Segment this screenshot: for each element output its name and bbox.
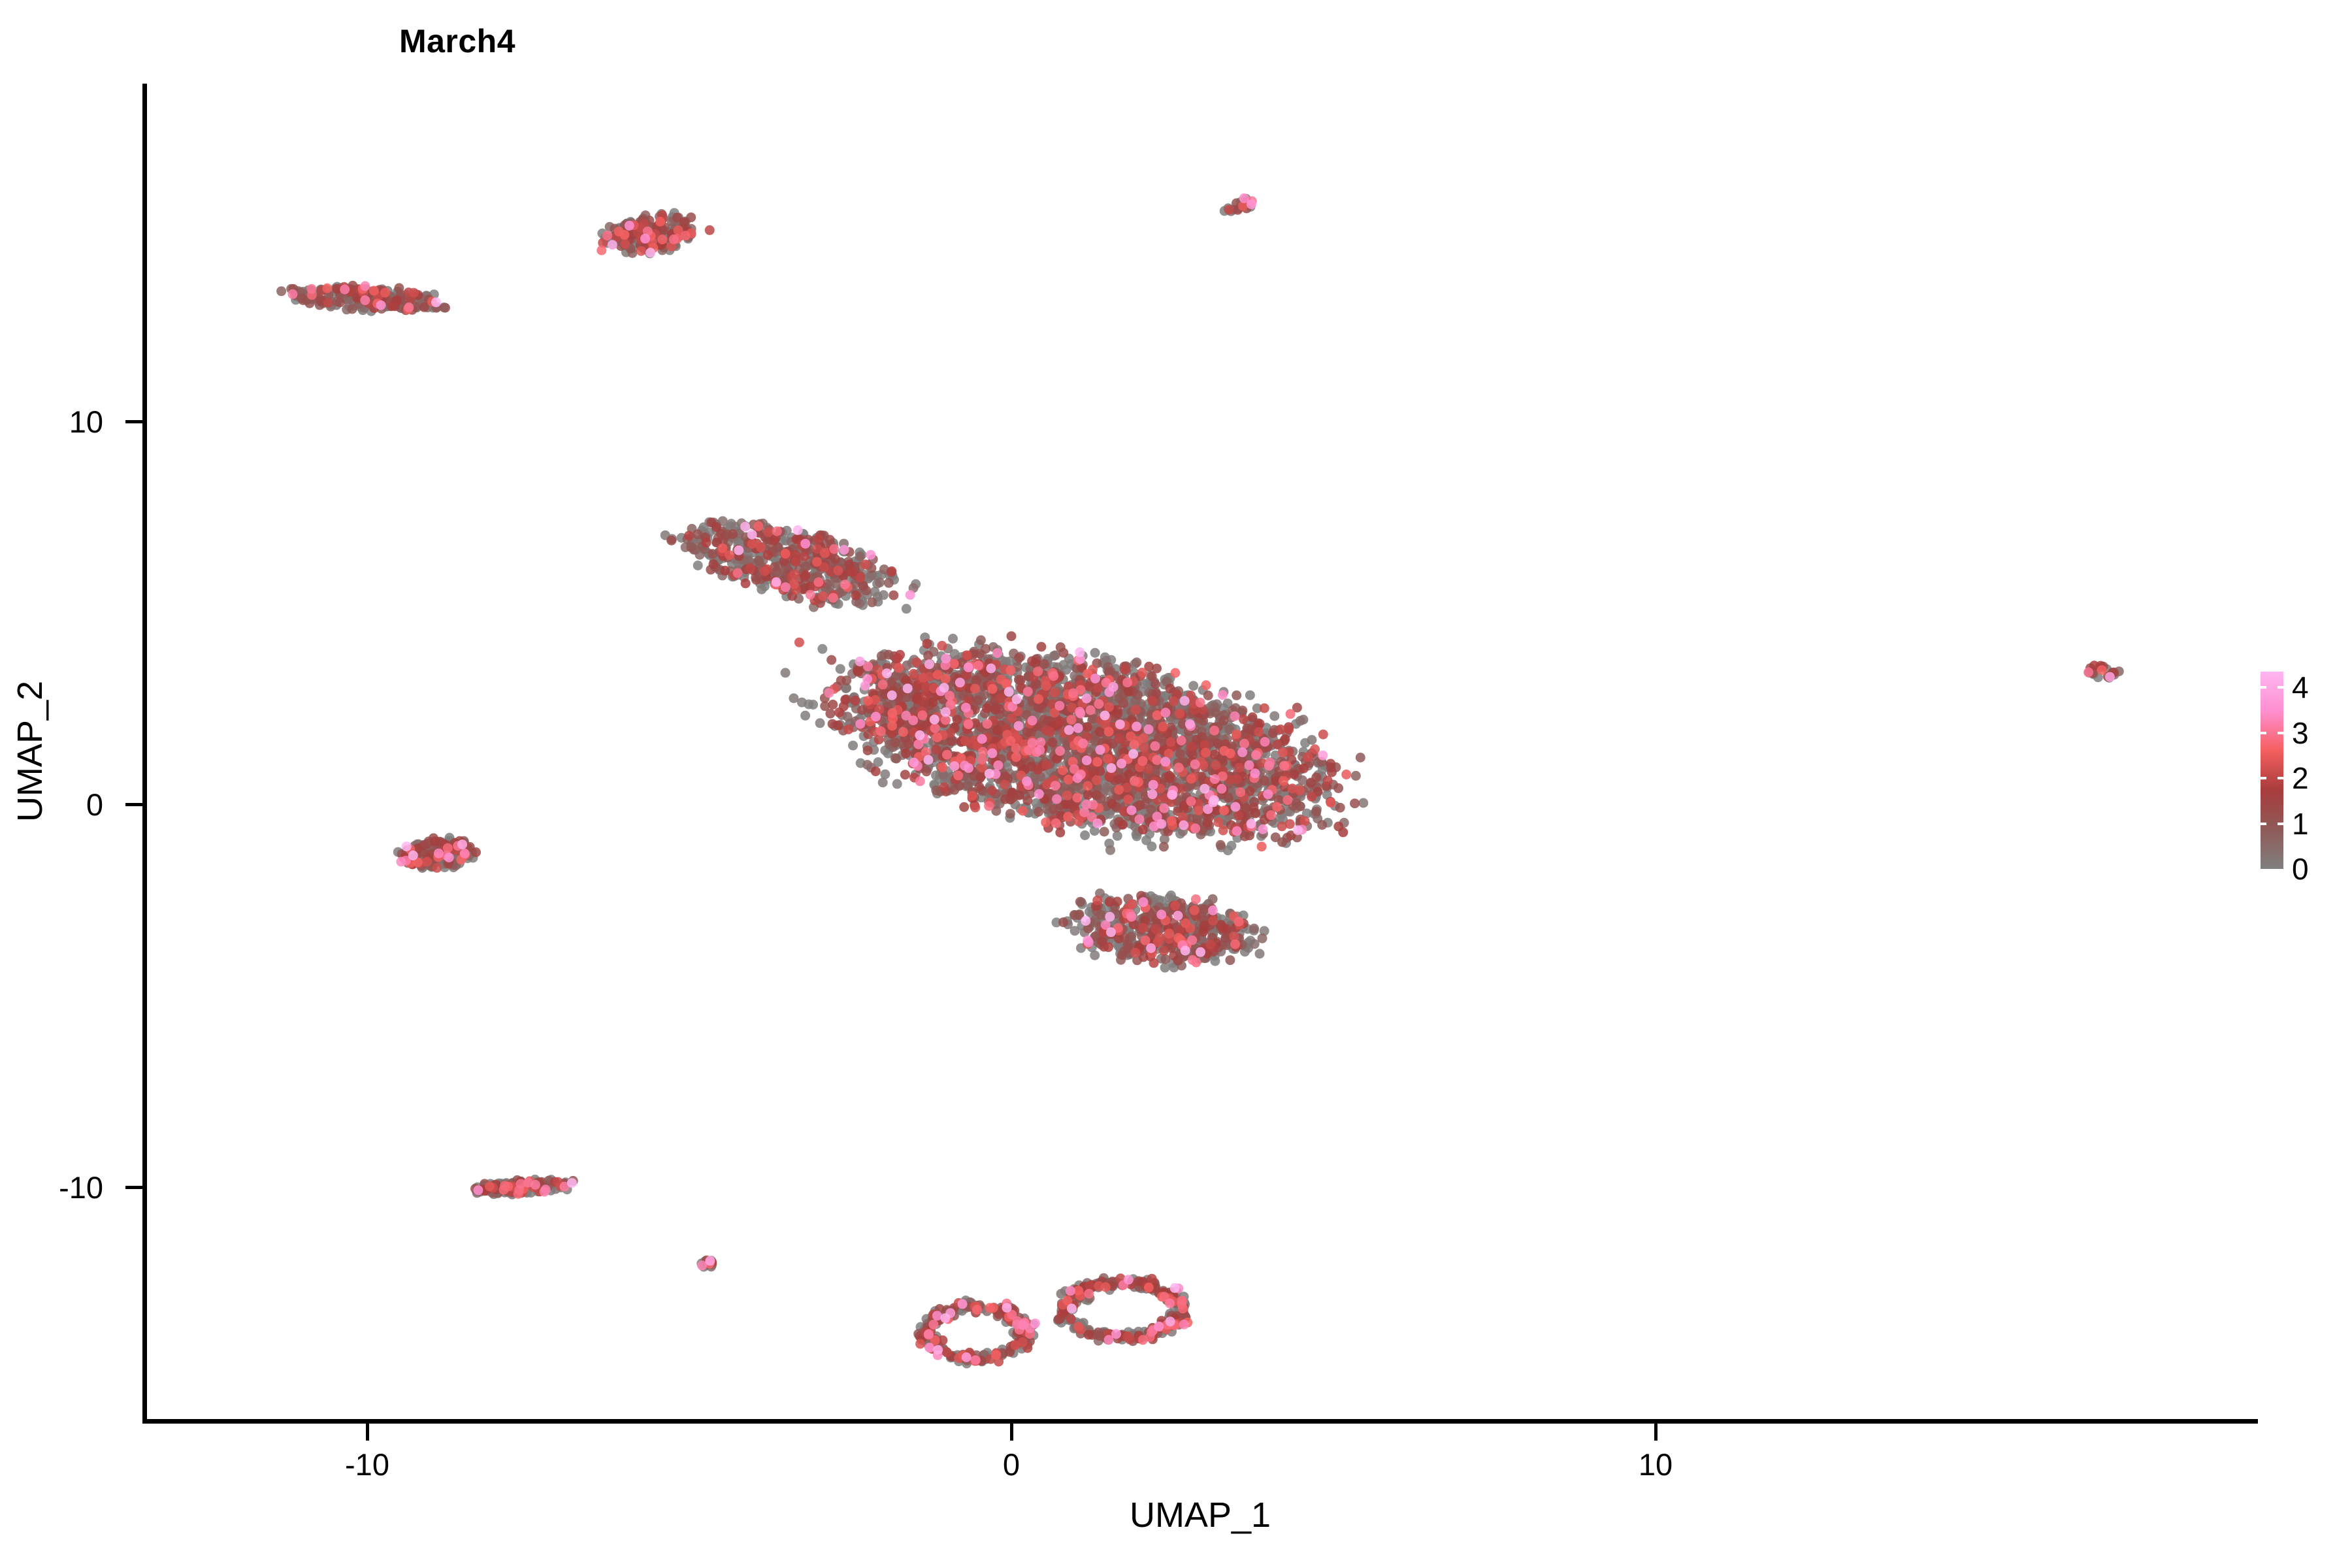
colorbar-tick: [2278, 777, 2283, 779]
y-axis-label: UMAP_2: [10, 681, 50, 822]
scatter-points-layer: [147, 84, 2258, 1419]
x-axis-line: [142, 1419, 2258, 1424]
colorbar-label: 3: [2292, 718, 2309, 748]
y-tick-label: 10: [0, 406, 103, 437]
colorbar-label: 4: [2292, 672, 2309, 702]
colorbar-tick: [2261, 823, 2266, 825]
x-tick-label: -10: [269, 1449, 465, 1480]
x-tick-mark: [366, 1424, 369, 1441]
colorbar-gradient: [2261, 672, 2283, 869]
y-tick-mark: [125, 1186, 142, 1189]
x-tick-label: 0: [913, 1449, 1109, 1480]
colorbar-tick: [2278, 732, 2283, 734]
page-title: March4: [0, 22, 1633, 60]
colorbar-tick: [2278, 686, 2283, 689]
colorbar-label: 2: [2292, 763, 2309, 793]
colorbar-label: 0: [2292, 854, 2309, 884]
x-tick-mark: [1654, 1424, 1658, 1441]
x-axis-label: UMAP_1: [1130, 1495, 1271, 1535]
colorbar-tick: [2278, 823, 2283, 825]
y-tick-mark: [125, 803, 142, 806]
x-tick-mark: [1010, 1424, 1013, 1441]
x-tick-label: 10: [1558, 1449, 1754, 1480]
colorbar-legend: 01234: [2261, 672, 2352, 881]
y-tick-mark: [125, 420, 142, 423]
y-axis-line: [142, 84, 147, 1419]
y-tick-label: -10: [0, 1172, 103, 1203]
figure-root: March4 100-10 -10010 UMAP_2 UMAP_1 01234: [0, 0, 2352, 1568]
colorbar-tick: [2261, 777, 2266, 779]
colorbar-tick: [2261, 686, 2266, 689]
colorbar-label: 1: [2292, 809, 2309, 839]
colorbar-tick: [2261, 732, 2266, 734]
plot-panel: 100-10 -10010 UMAP_2 UMAP_1: [142, 84, 2272, 1423]
